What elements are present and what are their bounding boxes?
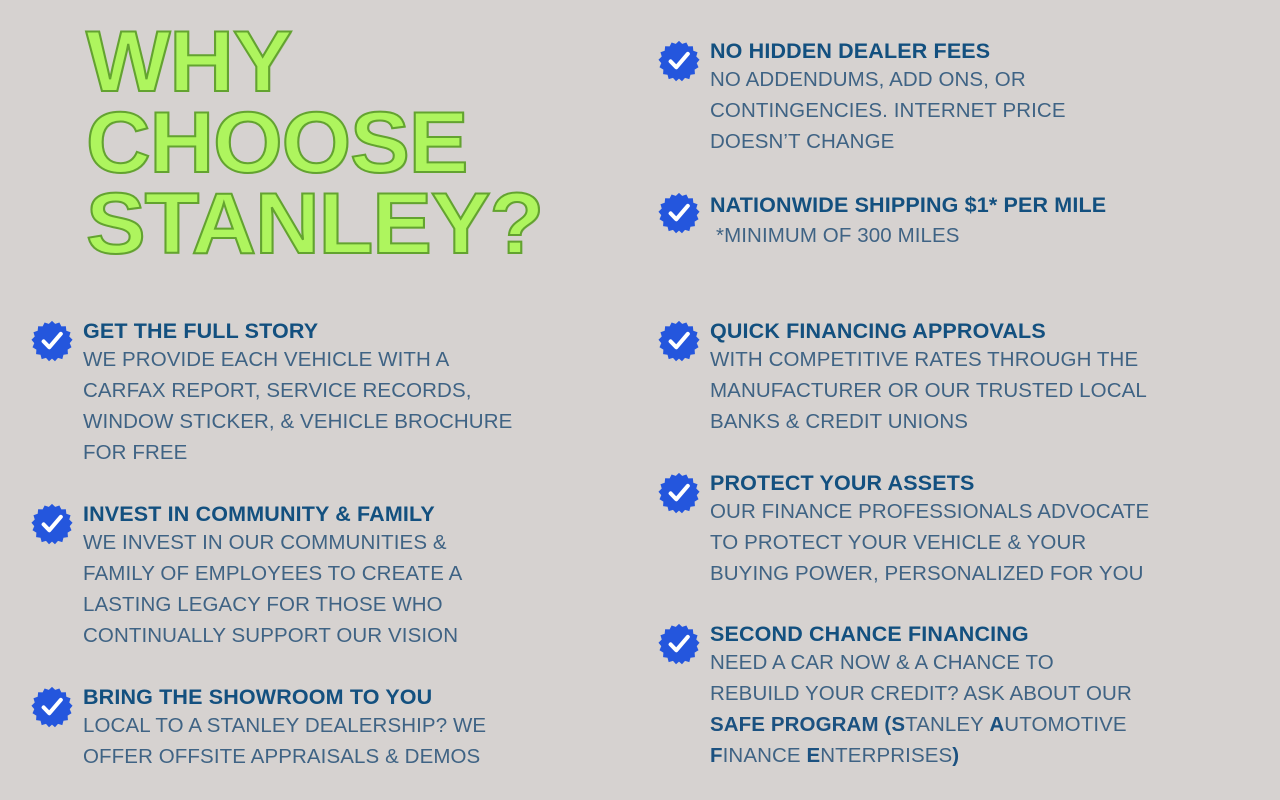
check-badge-icon: [31, 320, 73, 362]
normal-run: TANLEY: [905, 713, 989, 736]
benefit-text: QUICK FINANCING APPROVALS WITH COMPETITI…: [710, 318, 1238, 438]
benefit-description: OUR FINANCE PROFESSIONALS ADVOCATE TO PR…: [710, 497, 1238, 589]
check-badge-icon: [658, 40, 700, 82]
benefit-item-protect-your-assets: PROTECT YOUR ASSETS OUR FINANCE PROFESSI…: [658, 470, 1238, 590]
benefit-item-second-chance-financing: SECOND CHANCE FINANCING NEED A CAR NOW &…: [658, 621, 1238, 771]
benefit-title: GET THE FULL STORY: [83, 319, 611, 344]
normal-run: NTERPRISES: [820, 744, 952, 767]
normal-run: UTOMOTIVE: [1004, 713, 1126, 736]
benefit-text: INVEST IN COMMUNITY & FAMILY WE INVEST I…: [83, 501, 611, 651]
normal-run: INANCE: [723, 744, 807, 767]
page-title: WHY CHOOSE STANLEY?: [86, 22, 648, 264]
check-badge-icon: [658, 320, 700, 362]
emphasis-run: A: [989, 713, 1004, 736]
benefit-item-get-the-full-story: GET THE FULL STORY WE PROVIDE EACH VEHIC…: [31, 318, 611, 468]
benefit-text: BRING THE SHOWROOM TO YOU LOCAL TO A STA…: [83, 684, 611, 773]
benefit-description-plain: NEED A CAR NOW & A CHANCE TO REBUILD YOU…: [710, 651, 1132, 705]
benefit-item-nationwide-shipping: NATIONWIDE SHIPPING $1* PER MILE *MINIMU…: [658, 190, 1238, 252]
benefit-description-rich: SAFE PROGRAM (STANLEY AUTOMOTIVE FINANCE…: [710, 713, 1127, 767]
benefit-item-bring-the-showroom-to-you: BRING THE SHOWROOM TO YOU LOCAL TO A STA…: [31, 684, 611, 773]
benefit-description: NEED A CAR NOW & A CHANCE TO REBUILD YOU…: [710, 648, 1238, 771]
benefit-text: NATIONWIDE SHIPPING $1* PER MILE *MINIMU…: [710, 190, 1238, 252]
emphasis-run: SAFE PROGRAM (S: [710, 713, 905, 736]
emphasis-run: ): [952, 744, 959, 767]
benefit-text: PROTECT YOUR ASSETS OUR FINANCE PROFESSI…: [710, 470, 1238, 590]
benefit-title: QUICK FINANCING APPROVALS: [710, 319, 1238, 344]
benefit-description: *MINIMUM OF 300 MILES: [710, 221, 1238, 252]
benefit-title: PROTECT YOUR ASSETS: [710, 471, 1238, 496]
benefit-title: NATIONWIDE SHIPPING $1* PER MILE: [710, 191, 1238, 220]
benefit-item-quick-financing-approvals: QUICK FINANCING APPROVALS WITH COMPETITI…: [658, 318, 1238, 438]
check-badge-icon: [658, 192, 700, 234]
benefit-title: BRING THE SHOWROOM TO YOU: [83, 685, 611, 710]
benefit-text: SECOND CHANCE FINANCING NEED A CAR NOW &…: [710, 621, 1238, 771]
benefit-description: LOCAL TO A STANLEY DEALERSHIP? WE OFFER …: [83, 711, 611, 773]
benefit-title: NO HIDDEN DEALER FEES: [710, 39, 1238, 64]
benefit-description: WITH COMPETITIVE RATES THROUGH THE MANUF…: [710, 345, 1238, 437]
check-badge-icon: [658, 623, 700, 665]
right-column: NO HIDDEN DEALER FEES NO ADDENDUMS, ADD …: [640, 0, 1280, 800]
benefit-item-invest-in-community-family: INVEST IN COMMUNITY & FAMILY WE INVEST I…: [31, 501, 611, 651]
benefit-title: SECOND CHANCE FINANCING: [710, 622, 1238, 647]
benefit-description: NO ADDENDUMS, ADD ONS, OR CONTINGENCIES.…: [710, 65, 1238, 157]
emphasis-run: E: [806, 744, 820, 767]
poster-canvas: WHY CHOOSE STANLEY? GET THE FULL STORY W…: [0, 0, 1280, 800]
emphasis-run: F: [710, 744, 723, 767]
benefit-text: GET THE FULL STORY WE PROVIDE EACH VEHIC…: [83, 318, 611, 468]
benefit-text: NO HIDDEN DEALER FEES NO ADDENDUMS, ADD …: [710, 38, 1238, 158]
benefit-description: WE INVEST IN OUR COMMUNITIES & FAMILY OF…: [83, 528, 611, 651]
benefit-description: WE PROVIDE EACH VEHICLE WITH A CARFAX RE…: [83, 345, 611, 468]
check-badge-icon: [31, 503, 73, 545]
left-column: WHY CHOOSE STANLEY? GET THE FULL STORY W…: [0, 0, 640, 800]
check-badge-icon: [658, 472, 700, 514]
benefit-item-no-hidden-dealer-fees: NO HIDDEN DEALER FEES NO ADDENDUMS, ADD …: [658, 38, 1238, 158]
benefit-title: INVEST IN COMMUNITY & FAMILY: [83, 502, 611, 527]
check-badge-icon: [31, 686, 73, 728]
